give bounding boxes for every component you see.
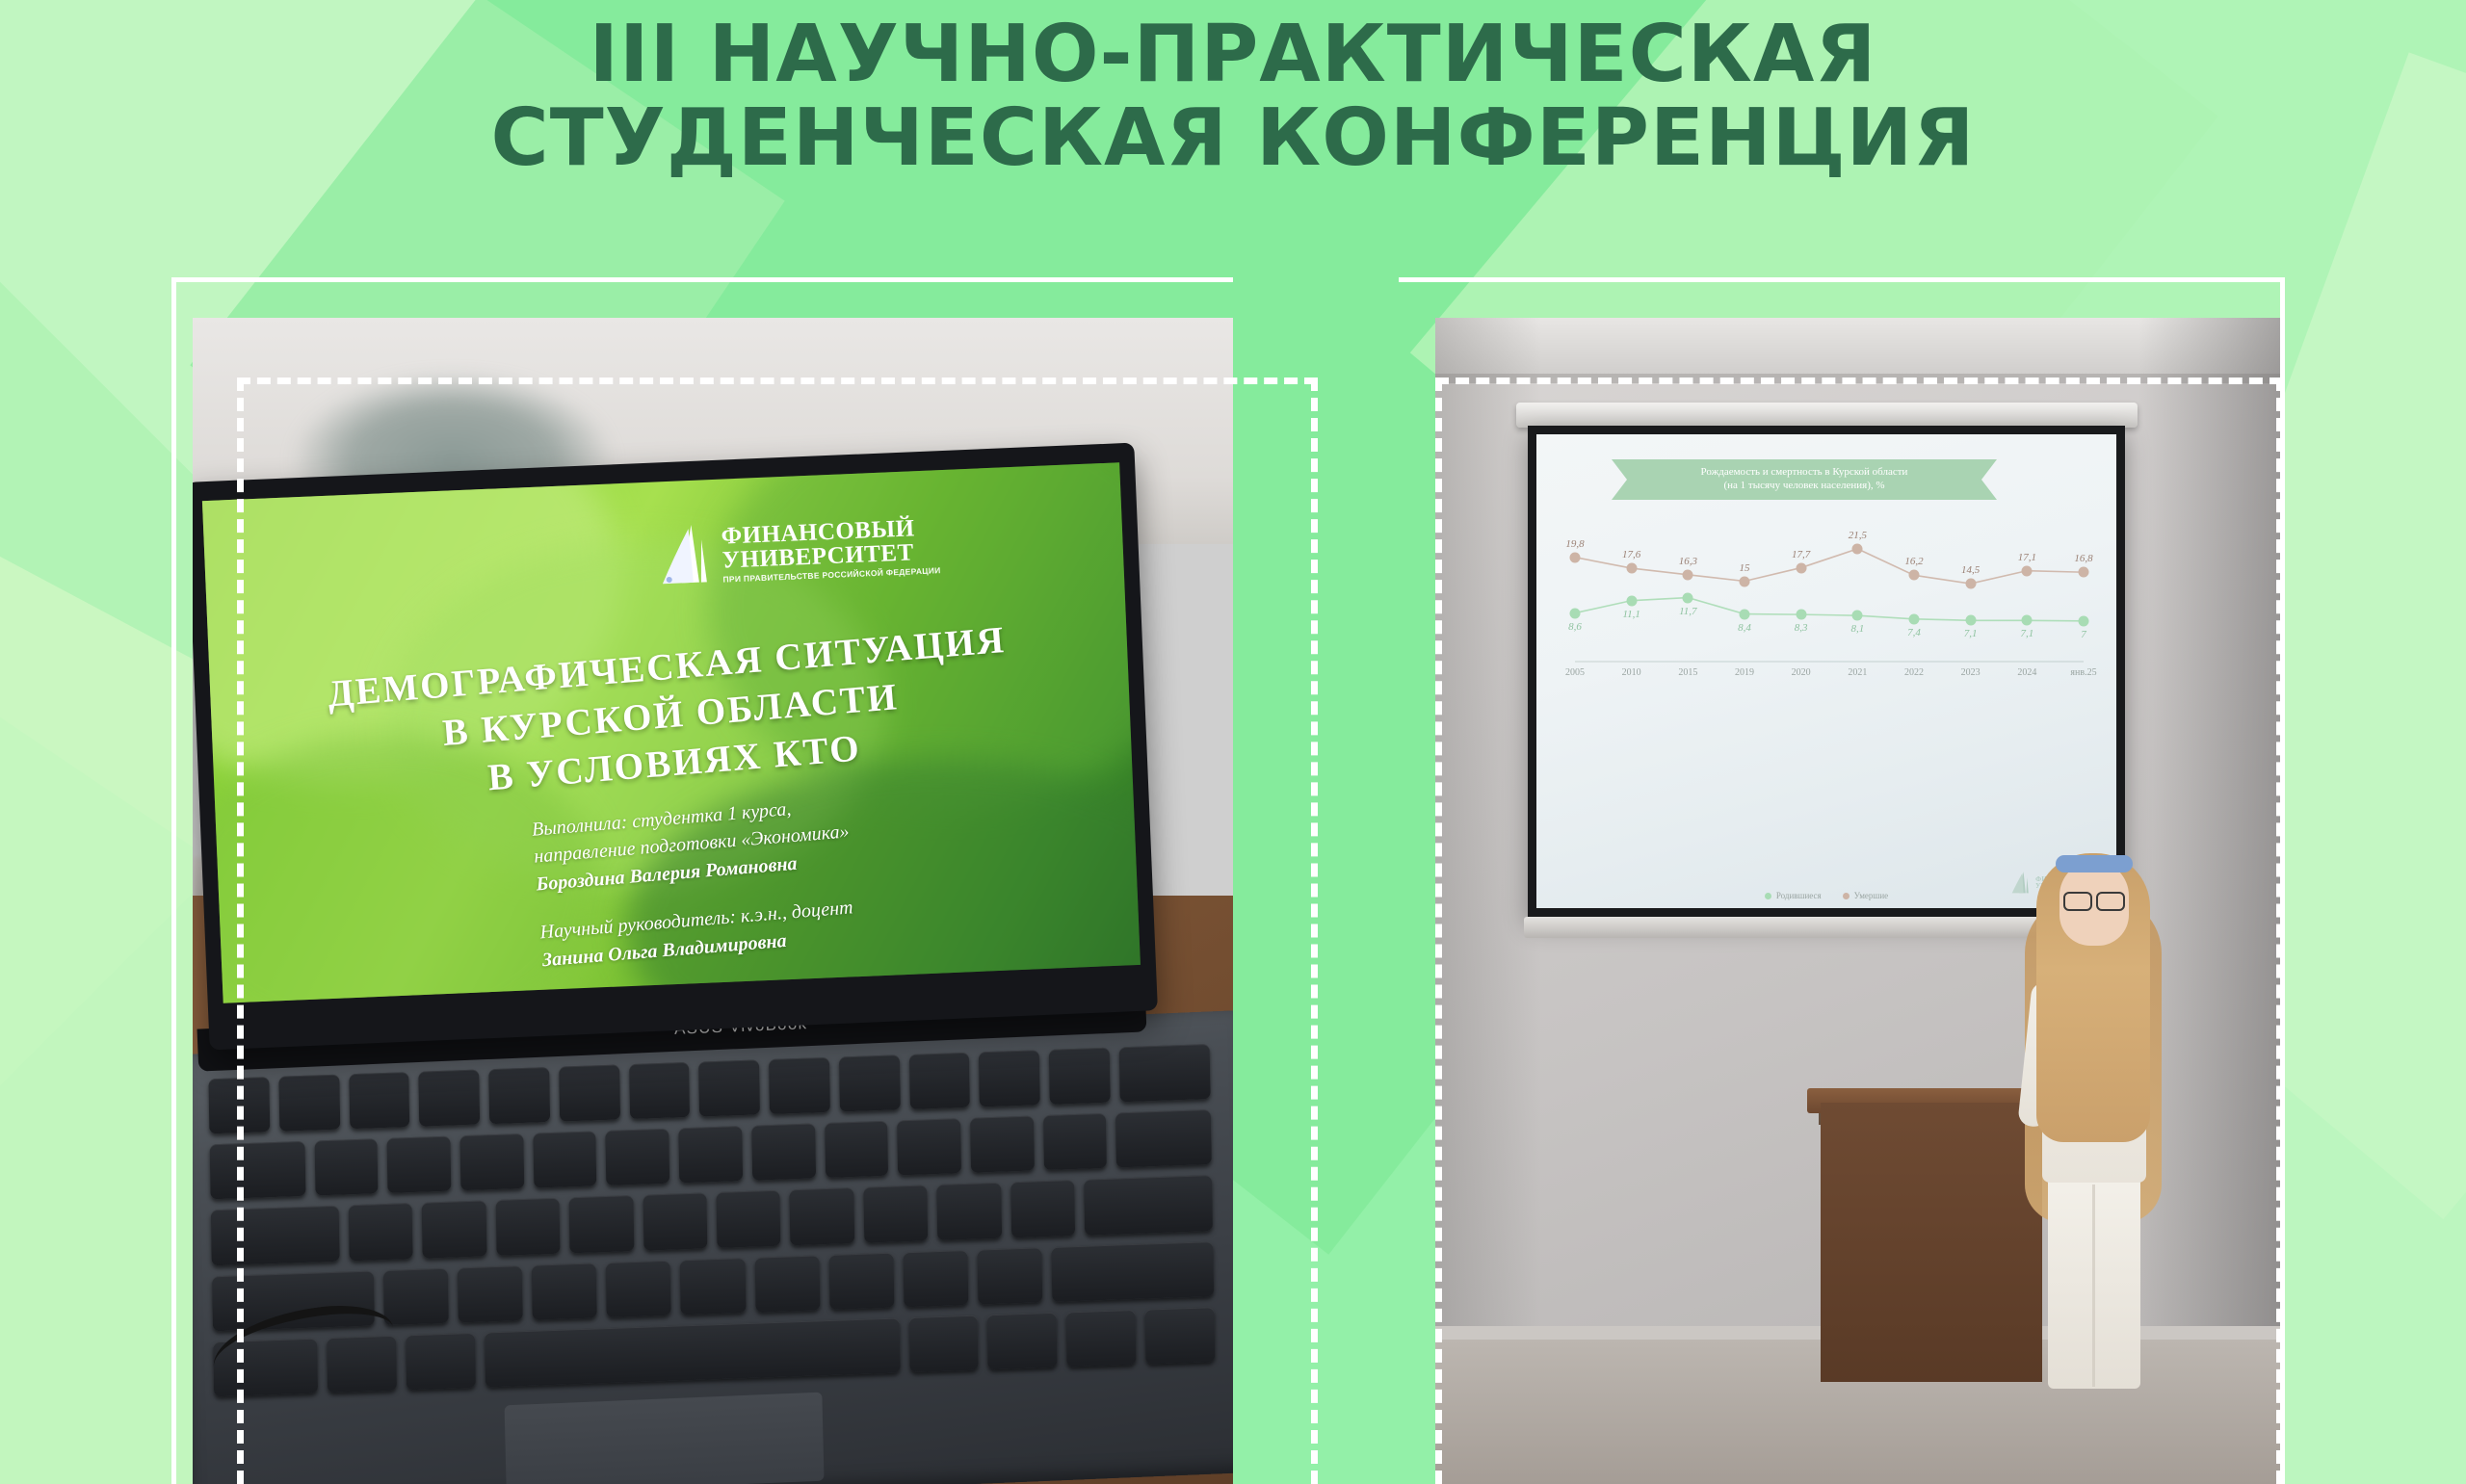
chart-point [1796,610,1806,620]
chart-point [2079,567,2089,578]
chart-point [1965,615,1976,626]
chart-point-label: 7 [2081,629,2086,640]
chart-point-label: 7,1 [2020,628,2033,639]
chart-point [1740,576,1750,586]
chart-point [1570,552,1581,562]
chart-point-label: 11,1 [1622,609,1640,620]
left-photo: ASUS VivoBook ФИНАНСОВЫЙ УН [193,318,1233,1484]
chart-point [1909,613,1920,624]
chart-point-label: 17,1 [2018,552,2036,563]
chart-point-label: 15 [1740,562,1750,574]
legend-color-dot [1843,893,1849,899]
chart-point [1852,543,1863,554]
chart-point [1683,592,1693,603]
laptop-touchpad[interactable] [505,1393,825,1484]
chart-x-tick-label: 2021 [1848,667,1867,678]
demographics-line-chart: 8,611,111,78,48,38,17,47,17,1719,817,616… [1560,511,2099,694]
chart-point-label: 8,1 [1850,623,1864,635]
chart-x-tick-label: 2022 [1904,667,1924,678]
left-wall-shadow [1435,318,1541,1484]
chart-point-label: 16,8 [2074,553,2092,564]
financial-university-logo: ФИНАНСОВЫЙ УНИВЕРСИТЕТ ПРИ ПРАВИТЕЛЬСТВЕ… [658,514,941,587]
chart-point [2022,615,2033,626]
chart-point-label: 14,5 [1961,564,1980,576]
chart-point-label: 16,2 [1904,556,1923,567]
legend-item: Родившиеся [1765,891,1822,900]
chart-point-label: 17,6 [1622,549,1640,560]
chart-x-tick-label: 2015 [1678,667,1697,678]
chart-point-label: 21,5 [1849,530,1867,541]
chart-point-label: 7,4 [1907,627,1921,638]
chart-point [1626,595,1637,606]
chart-point [1796,562,1806,573]
chart-title-line-2: (на 1 тысячу человек населения), % [1701,480,1908,493]
chart-point [1626,563,1637,574]
chart-point [1740,609,1750,619]
chart-point-label: 11,7 [1679,606,1696,617]
university-logo-text: ФИНАНСОВЫЙ УНИВЕРСИТЕТ ПРИ ПРАВИТЕЛЬСТВЕ… [721,515,941,584]
chart-point [1909,570,1920,581]
presenter [2007,838,2181,1396]
presenter-headband [2056,855,2133,872]
legend-label: Родившиеся [1776,891,1822,900]
chart-point-label: 8,3 [1795,622,1808,634]
legend-color-dot [1765,893,1771,899]
chart-x-tick-label: янв.25 [2070,667,2096,678]
laptop-base [193,1010,1233,1484]
chart-point [1965,579,1976,589]
chart-point-label: 16,3 [1679,556,1697,567]
chart-x-tick-label: 2010 [1622,667,1641,678]
chart-x-tick-label: 2019 [1735,667,1754,678]
chart-title-banner: Рождаемость и смертность в Курской облас… [1612,459,1997,500]
chart-point-label: 8,6 [1568,621,1582,633]
legend-label: Умершие [1854,891,1889,900]
laptop-lid: ФИНАНСОВЫЙ УНИВЕРСИТЕТ ПРИ ПРАВИТЕЛЬСТВЕ… [193,443,1158,1051]
page-title-line-2: СТУДЕНЧЕСКАЯ КОНФЕРЕНЦИЯ [491,97,1976,181]
chart-point-label: 17,7 [1792,549,1810,560]
chart-x-tick-label: 2024 [2017,667,2036,678]
chart-point [1683,569,1693,580]
chart-x-tick-label: 2020 [1792,667,1811,678]
laptop-screen-slide: ФИНАНСОВЫЙ УНИВЕРСИТЕТ ПРИ ПРАВИТЕЛЬСТВЕ… [202,462,1141,1002]
chart-point [1852,611,1863,621]
chart-point [2079,615,2089,626]
chart-point-label: 7,1 [1964,628,1978,639]
chart-point-label: 8,4 [1738,622,1751,634]
chart-x-tick-label: 2023 [1961,667,1981,678]
projector-screen-case [1516,403,2138,428]
legend-item: Умершие [1843,891,1889,900]
poster-header: III НАУЧНО-ПРАКТИЧЕСКАЯ СТУДЕНЧЕСКАЯ КОН… [0,0,2466,231]
university-sail-icon [658,524,713,587]
right-photo: Рождаемость и смертность в Курской облас… [1435,318,2283,1484]
presenter-glasses-icon [2063,892,2125,907]
chart-title-line-1: Рождаемость и смертность в Курской облас… [1701,466,1908,480]
chart-point-label: 19,8 [1565,538,1584,550]
page-title-line-1: III НАУЧНО-ПРАКТИЧЕСКАЯ [590,13,1877,97]
chart-point [2022,565,2033,576]
presenter-trousers-seam [2092,1185,2095,1387]
chart-point [1570,608,1581,618]
chart-x-tick-label: 2005 [1565,667,1585,678]
